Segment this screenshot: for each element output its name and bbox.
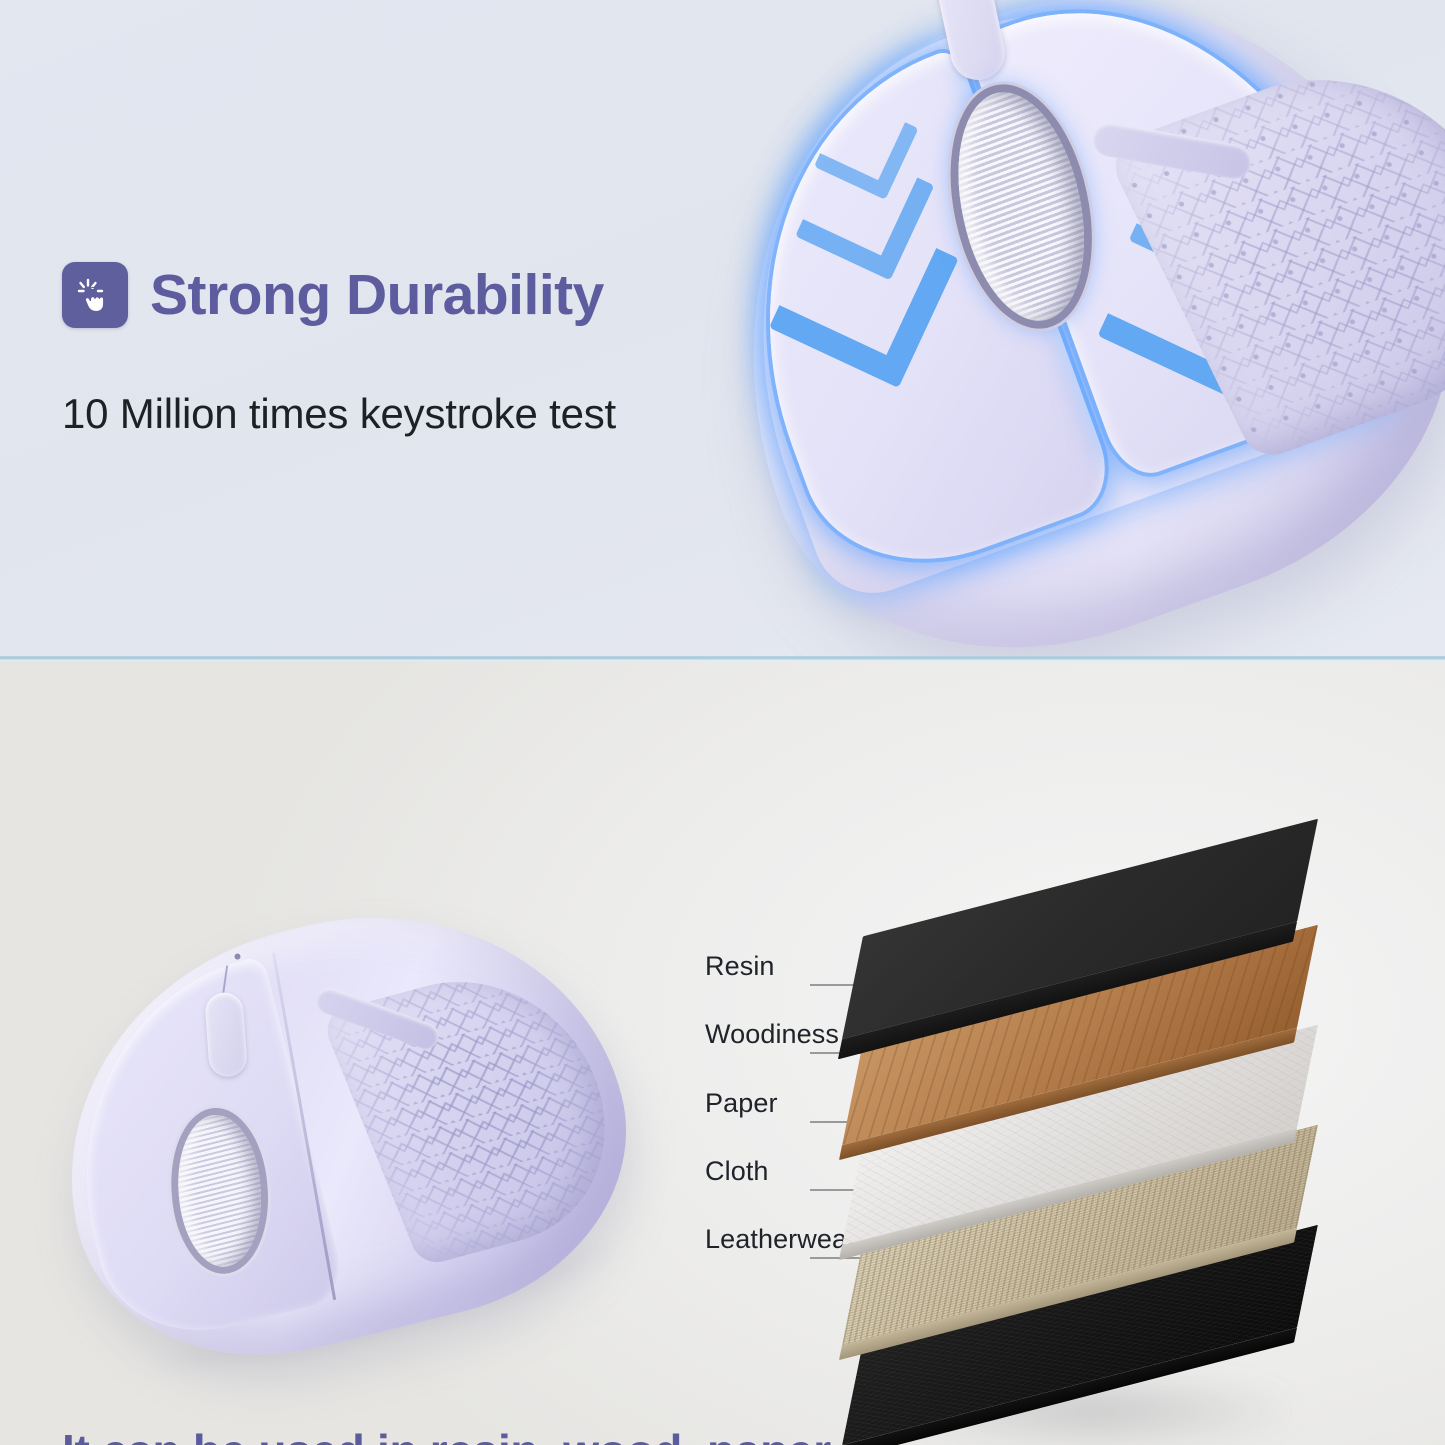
page-title: Strong Durability: [150, 267, 604, 324]
material-stack: [845, 811, 1425, 1401]
material-label-cloth: Cloth: [705, 1156, 769, 1187]
material-label-paper: Paper: [705, 1088, 778, 1119]
mouse-closeup-illustration: [564, 0, 1445, 656]
mouse-dpi-button: [204, 991, 248, 1077]
materials-headline: It can be used in resin, wood, paper, cl…: [62, 1421, 882, 1445]
click-hand-icon: [62, 262, 128, 328]
product-feature-image: Strong Durability 10 Million times keyst…: [0, 0, 1445, 1445]
feature-heading: Strong Durability: [62, 262, 604, 328]
material-label-resin: Resin: [705, 951, 775, 982]
materials-headline-line1: It can be used in resin, wood, paper,: [62, 1421, 882, 1445]
top-feature-panel: Strong Durability 10 Million times keyst…: [0, 0, 1445, 656]
feature-subtitle: 10 Million times keystroke test: [62, 390, 616, 438]
mouse-product-illustration: [0, 826, 715, 1437]
bottom-feature-panel: It can be used in resin, wood, paper, cl…: [0, 661, 1445, 1445]
